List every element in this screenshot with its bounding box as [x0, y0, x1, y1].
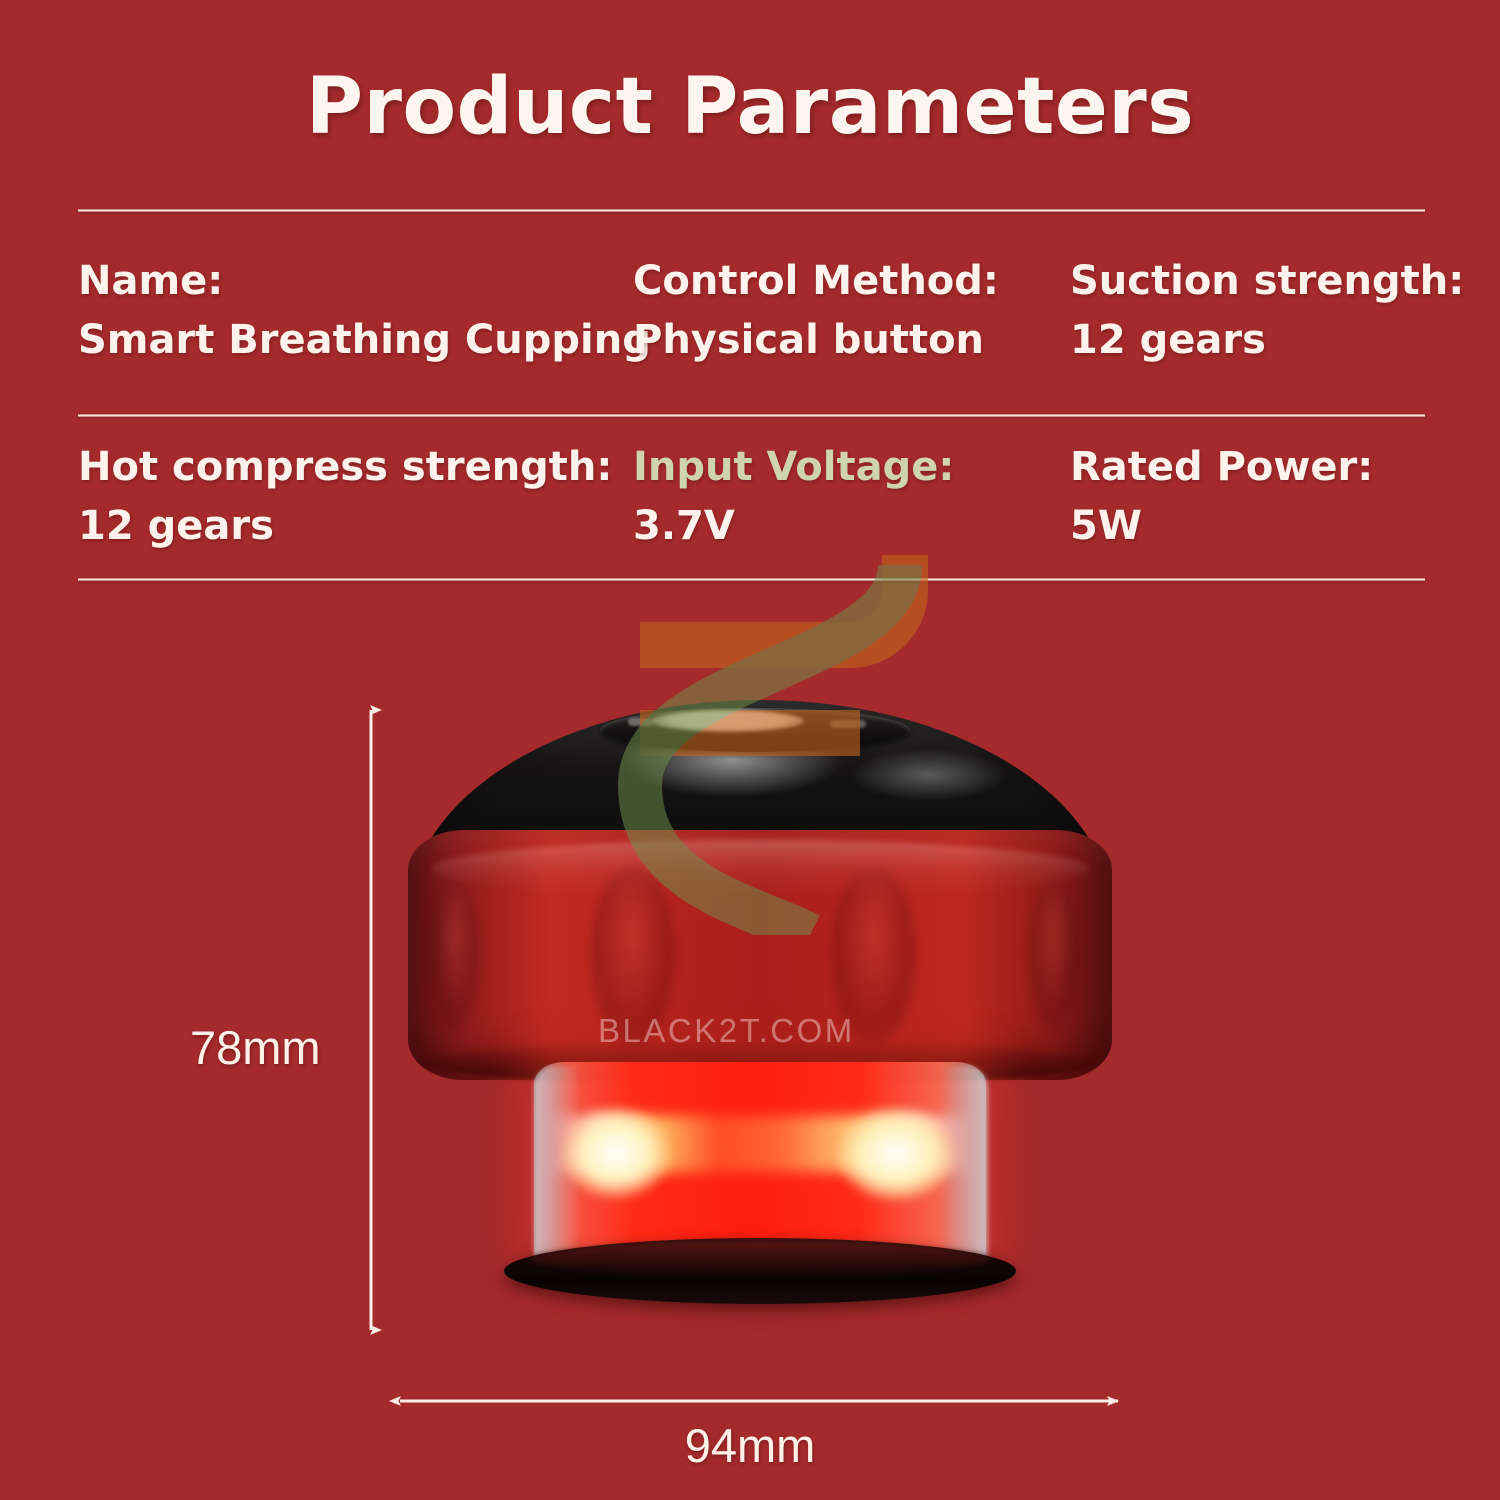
parameter-value-hot-compress-strength: 12 gears — [78, 503, 617, 550]
divider-top — [78, 209, 1425, 212]
parameter-label-name: Name: — [78, 258, 617, 305]
parameter-label-control-method: Control Method: — [633, 258, 1054, 305]
product-image-cupping-device — [400, 690, 1120, 1340]
parameter-cell-input-voltage: Input Voltage: 3.7V — [633, 444, 1070, 550]
control-panel-marking-right — [830, 720, 866, 728]
suction-cup-led-right — [838, 1108, 954, 1200]
parameter-label-suction-strength: Suction strength: — [1070, 258, 1409, 305]
parameter-value-input-voltage: 3.7V — [633, 503, 1054, 550]
parameter-cell-name: Name: Smart Breathing Cupping — [78, 258, 633, 364]
dimension-label-width: 94mm — [0, 1418, 1500, 1473]
parameter-value-name: Smart Breathing Cupping — [78, 317, 617, 364]
dimension-arrow-vertical — [330, 690, 420, 1350]
divider-middle — [78, 414, 1425, 417]
device-body-dimple — [1028, 880, 1080, 1030]
device-body-dimple — [590, 868, 676, 1046]
device-body-gloss — [430, 840, 1090, 898]
control-panel-marking-left — [628, 718, 654, 726]
divider-bottom — [78, 578, 1425, 581]
parameter-label-hot-compress-strength: Hot compress strength: — [78, 444, 617, 491]
parameter-value-suction-strength: 12 gears — [1070, 317, 1409, 364]
dimension-label-height: 78mm — [190, 1020, 321, 1075]
control-panel-highlight — [652, 710, 804, 732]
parameter-value-rated-power: 5W — [1070, 503, 1409, 550]
page-title: Product Parameters — [0, 62, 1500, 152]
device-body-dimple — [428, 880, 480, 1030]
parameter-label-rated-power: Rated Power: — [1070, 444, 1409, 491]
parameter-cell-hot-compress-strength: Hot compress strength: 12 gears — [78, 444, 633, 550]
parameter-cell-suction-strength: Suction strength: 12 gears — [1070, 258, 1425, 364]
product-parameters-page: Product Parameters Name: Smart Breathing… — [0, 0, 1500, 1500]
parameter-row-1: Name: Smart Breathing Cupping Control Me… — [78, 258, 1425, 364]
parameter-cell-control-method: Control Method: Physical button — [633, 258, 1070, 364]
parameter-value-control-method: Physical button — [633, 317, 1054, 364]
parameter-row-2: Hot compress strength: 12 gears Input Vo… — [78, 444, 1425, 550]
suction-cup-base-rim-inner — [530, 1242, 990, 1276]
parameter-cell-rated-power: Rated Power: 5W — [1070, 444, 1425, 550]
device-body-dimple — [830, 868, 916, 1046]
suction-cup-led-left — [562, 1108, 670, 1198]
parameter-label-input-voltage: Input Voltage: — [633, 444, 1054, 491]
